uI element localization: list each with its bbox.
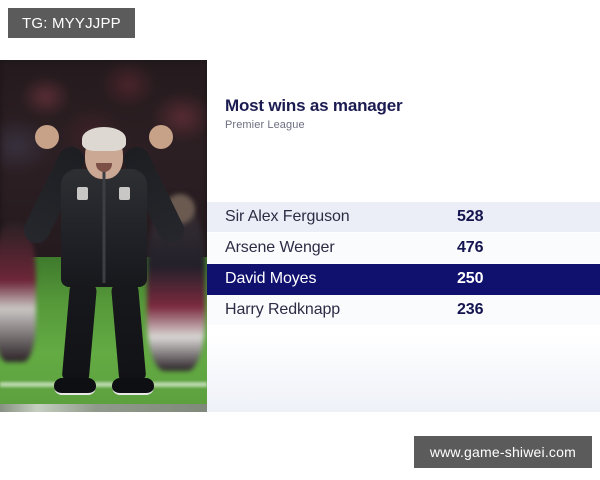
row-name: David Moyes bbox=[207, 270, 457, 288]
table-row: Arsene Wenger 476 bbox=[207, 233, 600, 264]
manager-shoe-left bbox=[54, 378, 96, 395]
manager-fist-right bbox=[149, 125, 173, 149]
manager-shoe-right bbox=[112, 378, 154, 395]
row-value: 476 bbox=[457, 239, 483, 257]
table-row: Sir Alex Ferguson 528 bbox=[207, 202, 600, 233]
panel-header: Most wins as manager Premier League bbox=[207, 60, 600, 131]
manager-photo bbox=[0, 60, 207, 412]
stat-card: Most wins as manager Premier League Sir … bbox=[0, 60, 600, 412]
panel-title: Most wins as manager bbox=[225, 97, 600, 116]
photo-bottom-strip bbox=[0, 404, 207, 412]
manager-club-badge bbox=[77, 187, 88, 200]
manager-fist-left bbox=[35, 125, 59, 149]
row-value: 250 bbox=[457, 270, 483, 288]
watermark-badge: www.game-shiwei.com bbox=[414, 436, 592, 468]
graphic-stage: TG: MYYJJPP bbox=[0, 0, 600, 480]
table-row-highlighted: David Moyes 250 bbox=[207, 264, 600, 295]
row-value: 236 bbox=[457, 301, 483, 319]
manager-legs bbox=[58, 281, 150, 389]
manager-leg-right bbox=[110, 280, 146, 382]
source-tag-badge: TG: MYYJJPP bbox=[8, 8, 135, 38]
ranking-list: Sir Alex Ferguson 528 Arsene Wenger 476 … bbox=[207, 202, 600, 326]
manager-figure bbox=[29, 109, 179, 409]
row-value: 528 bbox=[457, 208, 483, 226]
panel-subtitle: Premier League bbox=[225, 119, 600, 131]
row-name: Arsene Wenger bbox=[207, 239, 457, 257]
row-name: Sir Alex Ferguson bbox=[207, 208, 457, 226]
manager-leg-left bbox=[61, 280, 97, 382]
row-name: Harry Redknapp bbox=[207, 301, 457, 319]
table-row: Harry Redknapp 236 bbox=[207, 295, 600, 326]
source-tag-label: TG: MYYJJPP bbox=[22, 15, 121, 32]
manager-sponsor-badge bbox=[119, 187, 130, 200]
manager-hair bbox=[82, 127, 126, 151]
manager-jacket-zip bbox=[102, 171, 105, 283]
stat-panel: Most wins as manager Premier League Sir … bbox=[207, 60, 600, 412]
watermark-label: www.game-shiwei.com bbox=[430, 444, 576, 460]
